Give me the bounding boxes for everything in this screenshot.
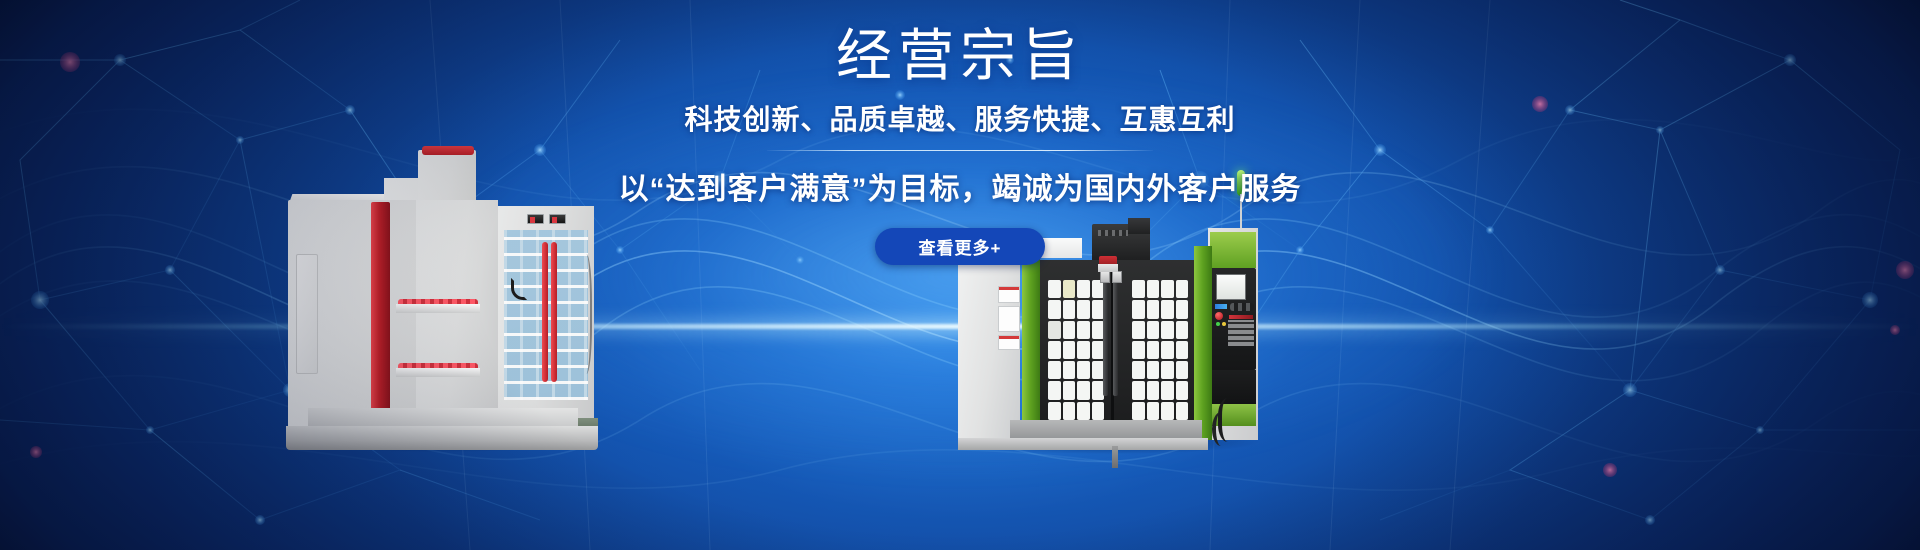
door-window-right bbox=[1132, 280, 1188, 420]
emergency-stop-icon bbox=[1215, 312, 1223, 320]
machine-base-lower bbox=[958, 438, 1208, 450]
spindle-vent bbox=[1098, 230, 1128, 236]
cnc-knobs bbox=[1230, 303, 1254, 311]
cnc-machine-left-image bbox=[278, 150, 598, 450]
signal-light bbox=[1237, 170, 1245, 196]
machine-foot bbox=[1112, 446, 1118, 468]
door-handle bbox=[1103, 278, 1108, 396]
status-badge bbox=[527, 214, 544, 224]
cnc-red-bar bbox=[1229, 315, 1253, 319]
cnc-machine-right-image bbox=[952, 168, 1262, 450]
machine-base bbox=[286, 426, 598, 450]
status-badge bbox=[549, 214, 566, 224]
door-handle-top bbox=[1100, 271, 1110, 283]
door-window-left bbox=[1048, 280, 1104, 420]
cabinet-door bbox=[296, 254, 318, 374]
signal-light-pole bbox=[1240, 194, 1242, 228]
cable-coil bbox=[1212, 412, 1230, 446]
hero-banner: 经营宗旨 科技创新、品质卓越、服务快捷、互惠互利 以“达到客户满意”为目标，竭诚… bbox=[0, 0, 1920, 550]
control-top-green bbox=[1210, 232, 1256, 268]
indicator-green bbox=[1216, 322, 1220, 326]
tower-red-cap bbox=[422, 146, 474, 155]
warning-label bbox=[998, 286, 1020, 303]
warning-label bbox=[998, 335, 1020, 350]
green-frame-post bbox=[1194, 246, 1212, 440]
cnc-screen bbox=[1216, 274, 1246, 300]
tool-shelf bbox=[396, 304, 480, 313]
green-frame-post bbox=[1022, 246, 1040, 440]
cnc-keypad bbox=[1228, 320, 1254, 346]
warning-labels bbox=[998, 286, 1020, 353]
indicator-yellow bbox=[1222, 322, 1226, 326]
cnc-status-strip bbox=[1215, 304, 1227, 309]
door-handle bbox=[1113, 278, 1118, 396]
tool-shelf bbox=[396, 368, 480, 377]
coolant-hose bbox=[578, 254, 592, 374]
spindle-collar bbox=[1098, 264, 1118, 272]
spindle-housing-upper bbox=[1128, 218, 1150, 234]
red-pillar bbox=[371, 202, 390, 438]
spec-label bbox=[998, 306, 1020, 332]
view-more-button[interactable]: 查看更多+ bbox=[875, 228, 1045, 265]
door-handle bbox=[551, 242, 557, 382]
door-handle bbox=[542, 242, 548, 382]
door-handle-top bbox=[1112, 271, 1122, 283]
